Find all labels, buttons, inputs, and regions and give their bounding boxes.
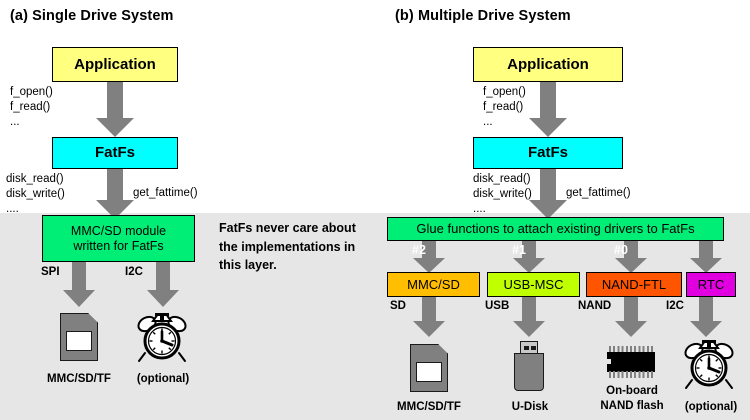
usb-drive-icon xyxy=(514,341,544,391)
panel-a-arrow-i2c xyxy=(147,262,179,308)
panel-a-mmcsd-module-box[interactable]: MMC/SD module written for FatFs xyxy=(42,215,195,262)
nand-chip-icon xyxy=(604,345,658,379)
panel-b-caption-u-disk: U-Disk xyxy=(489,400,571,415)
sd-card-icon xyxy=(60,313,98,361)
panel-a-diskio-api-labels: disk_read() disk_write() .... xyxy=(6,172,65,218)
panel-b-driver-box-mmcsd[interactable]: MMC/SD xyxy=(387,272,480,297)
sd-card-window xyxy=(416,362,442,382)
panel-b-caption-nand-flash: On-board NAND flash xyxy=(589,384,675,413)
panel-b-arrow-app-to-fatfs xyxy=(529,82,567,137)
panel-b-diskio-api-labels: disk_read() disk_write() .... xyxy=(473,172,532,218)
panel-a-application-box[interactable]: Application xyxy=(52,47,178,82)
panel-b-driver-box-usbmsc[interactable]: USB-MSC xyxy=(487,272,580,297)
nand-chip-pins-bottom xyxy=(609,371,653,378)
alarm-clock-icon xyxy=(136,311,188,363)
panel-a-layer-note: FatFs never care about the implementatio… xyxy=(219,219,369,275)
panel-a-bus-label-i2c: I2C xyxy=(125,266,143,278)
panel-a-app-api-labels: f_open() f_read() ... xyxy=(10,85,53,131)
panel-b-title: (b) Multiple Drive System xyxy=(395,8,571,24)
panel-b-drive-number-0: #0 xyxy=(614,243,628,257)
panel-a-fatfs-box[interactable]: FatFs xyxy=(52,137,178,169)
panel-b-caption-mmc-sd-tf: MMC/SD/TF xyxy=(388,400,470,415)
nand-chip-notch xyxy=(607,359,611,364)
panel-b-driver-box-rtc[interactable]: RTC xyxy=(686,272,736,297)
usb-body xyxy=(514,353,544,391)
panel-b-arrow-fatfs-to-glue xyxy=(529,169,567,219)
panel-a-caption-optional: (optional) xyxy=(123,372,203,387)
panel-b-drive-number-1: #1 xyxy=(512,243,526,257)
panel-a-mmcsd-module-label: MMC/SD module written for FatFs xyxy=(71,224,166,254)
panel-b-application-box[interactable]: Application xyxy=(473,47,623,82)
panel-b-bus-label-sd: SD xyxy=(390,300,406,312)
panel-b-app-api-labels: f_open() f_read() ... xyxy=(483,85,526,131)
panel-a-title: (a) Single Drive System xyxy=(10,8,173,24)
panel-b-driver-box-nandftl[interactable]: NAND-FTL xyxy=(586,272,682,297)
panel-a-arrow-fatfs-to-module xyxy=(96,169,134,219)
panel-a-arrow-app-to-fatfs xyxy=(96,82,134,137)
panel-b-arrow-bus-i2c xyxy=(690,297,722,339)
panel-b-arrow-rtc xyxy=(690,241,722,273)
panel-a-caption-mmc-sd-tf: MMC/SD/TF xyxy=(38,372,120,387)
panel-b-caption-optional: (optional) xyxy=(671,400,750,415)
panel-b-arrow-bus-nand xyxy=(615,297,647,339)
panel-b-arrow-bus-sd xyxy=(413,297,445,339)
panel-b-get-fattime-label: get_fattime() xyxy=(566,186,631,201)
panel-a-get-fattime-label: get_fattime() xyxy=(133,186,198,201)
fatfs-architecture-diagram: (a) Single Drive System Application f_op… xyxy=(0,0,750,420)
panel-b-bus-label-i2c: I2C xyxy=(666,300,684,312)
panel-b-fatfs-box[interactable]: FatFs xyxy=(473,137,623,169)
panel-a-bus-label-spi: SPI xyxy=(41,266,60,278)
panel-b-arrow-bus-usb xyxy=(513,297,545,339)
panel-b-drive-number-2: #2 xyxy=(412,243,426,257)
panel-b-bus-label-nand: NAND xyxy=(578,300,611,312)
sd-card-icon xyxy=(410,344,448,392)
sd-card-window xyxy=(66,331,92,351)
panel-b-bus-label-usb: USB xyxy=(485,300,509,312)
alarm-clock-icon xyxy=(683,338,735,390)
panel-b-glue-functions-box[interactable]: Glue functions to attach existing driver… xyxy=(387,217,724,241)
panel-a-arrow-spi xyxy=(63,262,95,308)
nand-chip-body xyxy=(607,352,655,372)
